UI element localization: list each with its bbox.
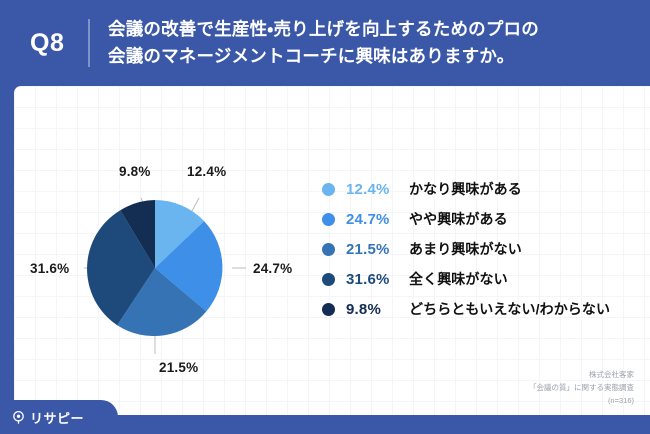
legend-item: 21.5% あまり興味がない [322,234,642,264]
legend-color-swatch-icon [322,213,335,226]
header-divider [88,19,90,67]
pie-label-slice2: 21.5% [159,360,198,375]
question-title-line-2: 会議のマネージメントコーチに興味はありますか。 [108,43,632,70]
brand-logo: リサピー [0,400,118,434]
credit-survey: 「会議の質」に関する実態調査 [529,381,634,394]
pie-label-slice1: 24.7% [253,261,292,276]
legend-percent: 31.6% [346,271,409,288]
legend-color-swatch-icon [322,183,335,196]
content-card: 12.4% 24.7% 21.5% 31.6% 9.8% 12.4% かなり興味… [14,86,650,415]
page-title: 会議の改善で生産性・売り上げを向上するためのプロの 会議のマネージメントコーチに… [108,16,650,70]
legend-percent: 24.7% [346,211,409,228]
pie-label-slice3: 31.6% [30,261,69,276]
pie-slices [87,200,222,336]
legend-label: どちらともいえない/わからない [409,299,642,319]
infographic-slide: Q8 会議の改善で生産性・売り上げを向上するためのプロの 会議のマネージメントコ… [0,0,650,434]
legend-color-swatch-icon [322,243,335,256]
brand-logo-text: リサピー [30,408,84,427]
legend-color-swatch-icon [322,303,335,316]
question-title-line-1: 会議の改善で生産性・売り上げを向上するためのプロの [108,16,632,43]
pie-label-slice0: 12.4% [187,164,226,179]
legend-label: かなり興味がある [409,179,642,199]
credit-company: 株式会社客家 [529,368,634,381]
credit-sample-size: (n=316) [529,394,634,407]
legend-percent: 21.5% [346,241,409,258]
legend-label: あまり興味がない [409,239,642,259]
legend-item: 12.4% かなり興味がある [322,174,642,204]
legend-label: 全く興味がない [409,269,642,289]
chart-legend: 12.4% かなり興味がある 24.7% やや興味がある 21.5% あまり興味… [322,174,642,324]
question-number: Q8 [30,29,88,58]
legend-label: やや興味がある [409,209,642,229]
legend-percent: 12.4% [346,181,409,198]
header-bar: Q8 会議の改善で生産性・売り上げを向上するためのプロの 会議のマネージメントコ… [0,0,650,86]
source-credit: 株式会社客家 「会議の質」に関する実態調査 (n=316) [529,368,634,407]
legend-color-swatch-icon [322,273,335,286]
pie-label-slice4: 9.8% [119,164,151,179]
legend-percent: 9.8% [346,301,409,318]
legend-item: 31.6% 全く興味がない [322,264,642,294]
magnifier-pin-icon [11,410,26,425]
legend-item: 9.8% どちらともいえない/わからない [322,294,642,324]
legend-item: 24.7% やや興味がある [322,204,642,234]
pie-chart: 12.4% 24.7% 21.5% 31.6% 9.8% [14,86,314,415]
